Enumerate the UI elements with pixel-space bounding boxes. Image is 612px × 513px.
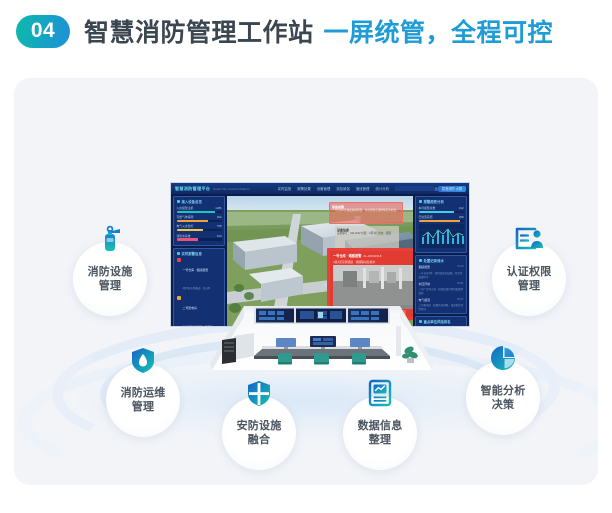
section-marker-icon [419,259,422,262]
feature-label: 智能分析决策 [481,384,526,412]
shield-flame-icon [125,342,161,378]
feature-security-fusion[interactable]: 安防设施融合 [222,396,296,470]
bar-label: 消防水系统 [177,234,191,238]
bar-label: 本月报警总数 [419,206,436,210]
alarm-dot-icon [177,296,181,300]
alarm-dot-icon [177,258,181,262]
feature-smart-analysis[interactable]: 智能分析决策 [466,361,540,435]
progress-bar [177,238,222,240]
bar-value: 758 [217,224,222,228]
nav-item-3[interactable]: 巡检维保 [336,186,350,191]
alarm-item-title: 二号配电房 [183,306,197,310]
slide-header: 04 智慧消防管理工作站 一屏统管，全程可控 [0,0,612,62]
records-title: 处置记录流水 [424,258,444,263]
control-room-3d [204,300,440,374]
feature-auth-manage[interactable]: 认证权限管理 [492,242,566,316]
record-time: 09:51 [457,282,463,286]
control-room-illustration [204,300,440,374]
section-marker-icon [177,200,180,203]
realtime-alarm-header: 实时报警信息 [177,251,222,256]
alarm-toast[interactable]: 紧急报警 一号仓库A区触发烟感报警，请立即核实现场情况并处置。 [329,202,403,224]
feature-label: 数据信息整理 [358,419,403,447]
progress-bar [419,211,464,213]
progress-bar [177,229,222,231]
bar-row: 火灾报警主机1286 [177,206,222,213]
feature-fire-facility[interactable]: 消防设施管理 [73,242,147,316]
record-title: 烟感报警 [419,265,431,269]
bar-label: 电气火灾监控 [177,224,194,228]
dashboard-navbar: 智慧消防管理平台 Smart Fire Control Platform 实时监… [171,183,469,194]
record-time: 10:24 [457,265,463,269]
section-marker-icon [177,252,180,255]
nav-item-1[interactable]: 报警处置 [297,186,311,191]
bar-value: 610 [217,234,222,238]
trend-block: 报警趋势分析 本月报警总数312 已处置完结298 [415,196,467,253]
page-subtitle: 一屏统管，全程可控 [324,13,554,49]
nav-item-4[interactable]: 值班管理 [356,186,370,191]
feature-fire-ops[interactable]: 消防运维管理 [106,363,180,437]
nav-item-0[interactable]: 实时监测 [278,186,292,191]
device-overview-block: 接入设备总览 火灾报警主机1286 可燃气体探测942 电气火灾监控758 [173,196,225,246]
bar-label: 已处置完结 [419,215,433,219]
content-card: 紧急报警 一号仓库A区触发烟感报警，请立即核实现场情况并处置。 设备信息 设备编… [14,78,598,485]
record-title: 水压异常 [419,282,431,286]
device-info-body: 设备编号：SM-1032 位置：A区3层 状态：报警 [337,232,397,236]
bigscreen-button[interactable]: 智慧消防·大屏 [438,186,466,192]
trend-header: 报警趋势分析 [419,199,464,204]
trend-title: 报警趋势分析 [424,199,444,204]
bar-row: 电气火灾监控758 [177,224,222,231]
progress-bar [177,211,222,213]
device-overview-header: 接入设备总览 [177,199,222,204]
page-title: 智慧消防管理工作站 [84,13,314,49]
bar-row: 已处置完结298 [419,215,464,222]
record-time: 08:37 [457,298,463,302]
alarm-toast-body: 一号仓库A区触发烟感报警，请立即核实现场情况并处置。 [332,209,400,213]
pie-chart-icon [485,340,521,376]
rank-value: 高风险 [455,326,463,327]
shield-cross-icon [241,375,277,411]
bar-label: 火灾报警主机 [177,206,194,210]
trend-chart [419,224,464,248]
bar-value: 312 [459,206,464,210]
list-item[interactable]: 一号仓库 · 烟感报警A区3层东侧通道 · 已派单 [177,258,222,294]
realtime-alarm-title: 实时报警信息 [182,251,202,256]
dashboard-title: 智慧消防管理平台 [175,186,210,192]
alarm-item-title: 一号仓库 · 烟感报警 [183,268,209,272]
fire-extinguisher-icon [92,221,128,257]
dashboard-subtitle: Smart Fire Control Platform [213,187,250,191]
device-info-card[interactable]: 设备信息 设备编号：SM-1032 位置：A区3层 状态：报警 [335,226,399,250]
bar-row: 可燃气体探测942 [177,215,222,222]
nav-item-2[interactable]: 设备管理 [317,186,331,191]
nav-item-5[interactable]: 统计分析 [375,186,389,191]
bar-row: 本月报警总数312 [419,206,464,213]
record-item[interactable]: 水压异常09:51 三号厂房消火栓 · 维保班组已到场处理并验收 [419,282,464,296]
section-marker-icon [419,200,422,203]
record-desc: 三号厂房消火栓 · 维保班组已到场处理并验收 [419,287,464,295]
bar-value: 298 [459,215,464,219]
alert-popup-header: 一号仓库 · 烟感报警 AL-20240318 × [330,251,413,260]
section-number-badge: 04 [16,15,70,48]
id-card-person-icon [511,221,547,257]
feature-label: 消防设施管理 [88,265,133,293]
bar-label: 可燃气体探测 [177,215,194,219]
feature-label: 安防设施融合 [237,419,282,447]
feature-label: 消防运维管理 [121,386,166,414]
bar-value: 942 [217,215,222,219]
feature-data-organize[interactable]: 数据信息整理 [343,396,417,470]
device-overview-title: 接入设备总览 [182,199,202,204]
trend-line-chart [419,224,464,248]
dashboard-search-input[interactable] [395,186,435,191]
progress-bar [177,220,222,222]
bar-row: 消防水系统610 [177,234,222,241]
alert-popup-code: AL-20240318 [363,254,381,258]
record-item[interactable]: 烟感报警10:24 一号仓库A区 · 现场核实无误报，已复位处理完毕 [419,265,464,279]
bar-value: 1286 [215,206,221,210]
records-header: 处置记录流水 [419,258,464,263]
feature-label: 认证权限管理 [507,265,552,293]
slide-root: 04 智慧消防管理工作站 一屏统管，全程可控 [0,0,612,513]
progress-bar [419,220,464,222]
alarm-item-desc: A区3层东侧通道 · 已派单 [183,287,211,290]
alert-popup-title: 一号仓库 · 烟感报警 [333,253,361,258]
record-desc: 一号仓库A区 · 现场核实无误报，已复位处理完毕 [419,271,464,279]
chart-document-icon [362,375,398,411]
